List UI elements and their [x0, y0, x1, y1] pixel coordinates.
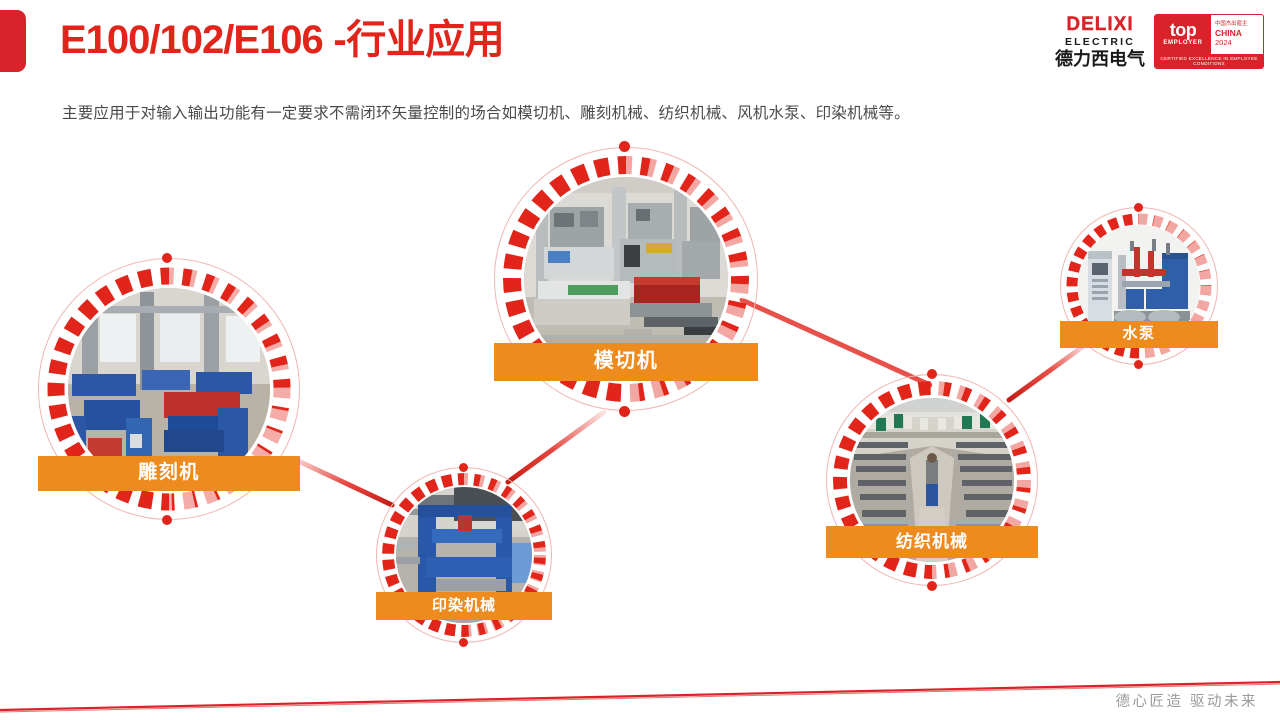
- node-label-diecutting: 模切机: [494, 343, 758, 381]
- node-label-engraving: 雕刻机: [38, 456, 300, 491]
- node-diecutting[interactable]: 模切机: [494, 147, 758, 411]
- node-label-textile: 纺织机械: [826, 526, 1038, 558]
- footer-divider: [0, 660, 1280, 720]
- node-label-waterpump: 水泵: [1060, 321, 1218, 348]
- node-dot-top: [1134, 203, 1143, 212]
- node-dot-bottom: [927, 581, 937, 591]
- node-dot-bottom: [619, 406, 630, 417]
- node-dot-top: [459, 463, 468, 472]
- node-dot-bottom: [162, 515, 172, 525]
- node-dot-top: [162, 253, 172, 263]
- node-dot-bottom: [459, 638, 468, 647]
- node-label-printdye: 印染机械: [376, 592, 552, 620]
- application-diagram: 雕刻机: [0, 0, 1280, 720]
- node-dot-bottom: [1134, 360, 1143, 369]
- node-dot-top: [927, 369, 937, 379]
- node-printdye[interactable]: 印染机械: [376, 467, 552, 643]
- node-waterpump[interactable]: 水泵: [1060, 207, 1218, 365]
- node-engraving[interactable]: 雕刻机: [38, 258, 300, 520]
- footer-slogan: 德心匠造 驱动未来: [1115, 690, 1258, 711]
- node-dot-top: [619, 141, 630, 152]
- node-textile[interactable]: 纺织机械: [826, 374, 1038, 586]
